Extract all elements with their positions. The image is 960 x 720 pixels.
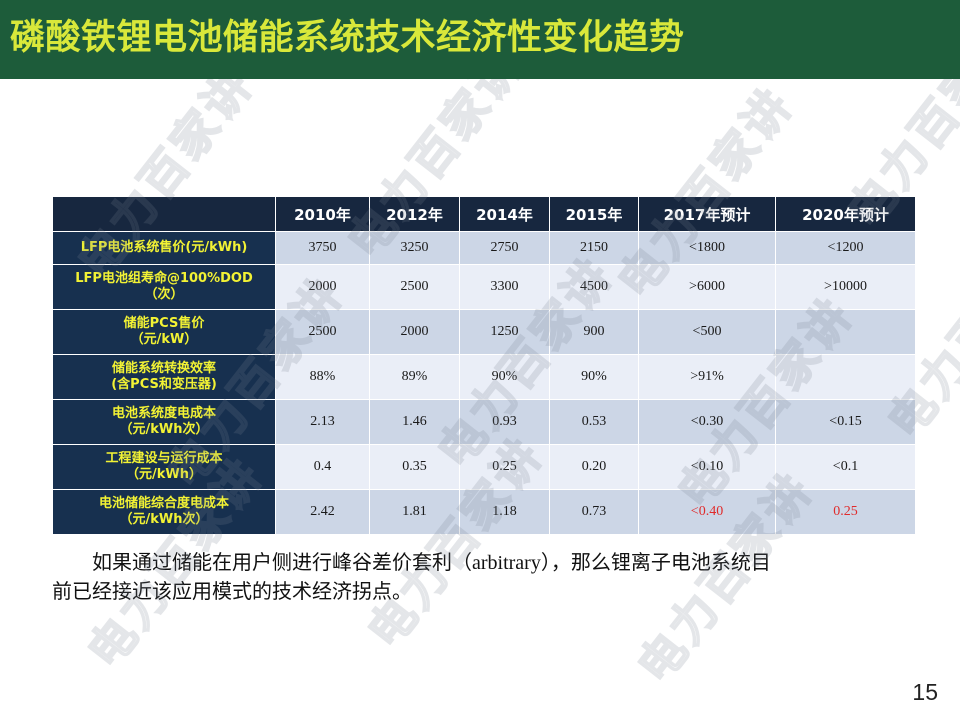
- row-label: 储能PCS售价（元/kW）: [53, 310, 276, 355]
- row-label-line: (含PCS和变压器): [55, 377, 273, 393]
- table-cell: 1.81: [370, 490, 460, 535]
- table-cell: 2750: [460, 232, 550, 265]
- table-cell: 900: [550, 310, 639, 355]
- row-label: 储能系统转换效率(含PCS和变压器): [53, 355, 276, 400]
- table-cell: 2.42: [276, 490, 370, 535]
- table-cell: <1800: [639, 232, 776, 265]
- row-label-line: 电池储能综合度电成本: [55, 496, 273, 512]
- row-label-line: （元/kW）: [55, 332, 273, 348]
- row-label: 工程建设与运行成本（元/kWh）: [53, 445, 276, 490]
- table-cell: 0.25: [460, 445, 550, 490]
- table-cell: <0.15: [776, 400, 916, 445]
- page-title: 磷酸铁锂电池储能系统技术经济性变化趋势: [10, 9, 685, 60]
- table-cell: 2000: [276, 265, 370, 310]
- table-cell: [776, 310, 916, 355]
- table-cell: <0.1: [776, 445, 916, 490]
- column-header-2015: 2015年: [550, 197, 639, 232]
- table-cell: 90%: [460, 355, 550, 400]
- table-cell: 2000: [370, 310, 460, 355]
- table-row: 储能系统转换效率(含PCS和变压器)88%89%90%90%>91%: [53, 355, 916, 400]
- table-corner-cell: [53, 197, 276, 232]
- table-cell: <1200: [776, 232, 916, 265]
- table-cell: 0.35: [370, 445, 460, 490]
- row-label-line: LFP电池系统售价(元/kWh): [55, 240, 273, 256]
- table-cell: 1.18: [460, 490, 550, 535]
- column-header-2014: 2014年: [460, 197, 550, 232]
- caption-line-1: 如果通过储能在用户侧进行峰谷差价套利（arbitrary），那么锂离子电池系统目: [52, 549, 924, 578]
- table-cell: 2.13: [276, 400, 370, 445]
- table-cell: 0.25: [776, 490, 916, 535]
- table-cell: >91%: [639, 355, 776, 400]
- table-row: LFP电池系统售价(元/kWh)3750325027502150<1800<12…: [53, 232, 916, 265]
- row-label: LFP电池组寿命@100%DOD（次）: [53, 265, 276, 310]
- column-header-2017: 2017年预计: [639, 197, 776, 232]
- table-cell: 0.20: [550, 445, 639, 490]
- row-label-line: （元/kWh次）: [55, 422, 273, 438]
- table-cell: 3250: [370, 232, 460, 265]
- row-label: LFP电池系统售价(元/kWh): [53, 232, 276, 265]
- table-cell: 90%: [550, 355, 639, 400]
- column-header-2012: 2012年: [370, 197, 460, 232]
- table-row: 工程建设与运行成本（元/kWh）0.40.350.250.20<0.10<0.1: [53, 445, 916, 490]
- column-header-2020: 2020年预计: [776, 197, 916, 232]
- row-label-line: 工程建设与运行成本: [55, 451, 273, 467]
- table-row: 储能PCS售价（元/kW）250020001250900<500: [53, 310, 916, 355]
- table-cell: [776, 355, 916, 400]
- table-cell: 88%: [276, 355, 370, 400]
- table-cell: <0.10: [639, 445, 776, 490]
- table-row: LFP电池组寿命@100%DOD（次）2000250033004500>6000…: [53, 265, 916, 310]
- slide-caption: 如果通过储能在用户侧进行峰谷差价套利（arbitrary），那么锂离子电池系统目…: [52, 549, 924, 607]
- table-cell: 2500: [276, 310, 370, 355]
- watermark-text: 电力百家讲: [150, 79, 356, 80]
- table-cell: 2500: [370, 265, 460, 310]
- row-label-line: LFP电池组寿命@100%DOD: [55, 271, 273, 287]
- slide-header-bar: 磷酸铁锂电池储能系统技术经济性变化趋势: [0, 0, 960, 79]
- economics-table-container: 2010年 2012年 2014年 2015年 2017年预计 2020年预计 …: [52, 196, 915, 535]
- table-cell: >6000: [639, 265, 776, 310]
- row-label: 电池系统度电成本（元/kWh次）: [53, 400, 276, 445]
- table-header-row: 2010年 2012年 2014年 2015年 2017年预计 2020年预计: [53, 197, 916, 232]
- table-row: 电池系统度电成本（元/kWh次）2.131.460.930.53<0.30<0.…: [53, 400, 916, 445]
- watermark-text: 电力百家讲: [690, 79, 896, 90]
- table-cell: 0.73: [550, 490, 639, 535]
- table-row: 电池储能综合度电成本（元/kWh次）2.421.811.180.73<0.400…: [53, 490, 916, 535]
- table-cell: 3300: [460, 265, 550, 310]
- table-cell: 3750: [276, 232, 370, 265]
- economics-table: 2010年 2012年 2014年 2015年 2017年预计 2020年预计 …: [52, 196, 916, 535]
- table-cell: 1250: [460, 310, 550, 355]
- table-cell: 0.93: [460, 400, 550, 445]
- row-label-line: 电池系统度电成本: [55, 406, 273, 422]
- row-label-line: （元/kWh次）: [55, 512, 273, 528]
- table-cell: 0.4: [276, 445, 370, 490]
- table-cell: <0.30: [639, 400, 776, 445]
- table-cell: 89%: [370, 355, 460, 400]
- row-label-line: 储能PCS售价: [55, 316, 273, 332]
- row-label-line: （元/kWh）: [55, 467, 273, 483]
- table-cell: 0.53: [550, 400, 639, 445]
- page-number: 15: [912, 679, 938, 706]
- table-body: LFP电池系统售价(元/kWh)3750325027502150<1800<12…: [53, 232, 916, 535]
- table-cell: <0.40: [639, 490, 776, 535]
- table-cell: >10000: [776, 265, 916, 310]
- row-label-line: 储能系统转换效率: [55, 361, 273, 377]
- table-cell: 2150: [550, 232, 639, 265]
- table-cell: 4500: [550, 265, 639, 310]
- table-cell: <500: [639, 310, 776, 355]
- caption-line-2: 前已经接近该应用模式的技术经济拐点。: [52, 578, 924, 607]
- table-cell: 1.46: [370, 400, 460, 445]
- row-label: 电池储能综合度电成本（元/kWh次）: [53, 490, 276, 535]
- column-header-2010: 2010年: [276, 197, 370, 232]
- table-header: 2010年 2012年 2014年 2015年 2017年预计 2020年预计: [53, 197, 916, 232]
- row-label-line: （次）: [55, 287, 273, 303]
